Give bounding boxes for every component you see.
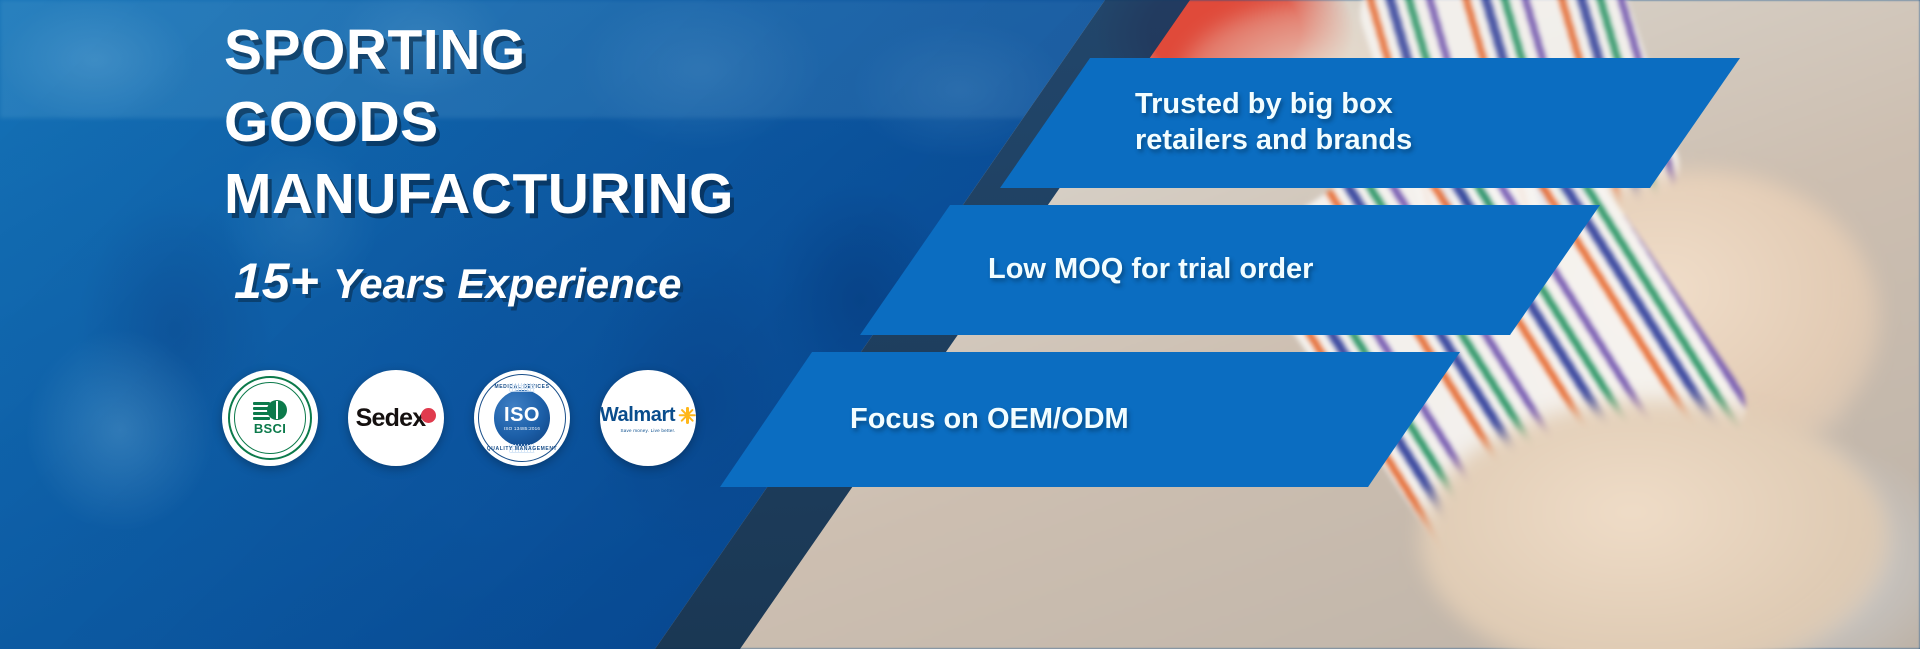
bsci-badge[interactable]: BSCI [222, 370, 318, 466]
headline-line-3: MANUFACTURING [224, 158, 864, 230]
iso-label: ISO [504, 406, 540, 425]
bsci-label: BSCI [254, 421, 286, 436]
page-title: SPORTING GOODS MANUFACTURING [224, 14, 864, 230]
headline-line-2: GOODS [224, 86, 864, 158]
sedex-badge[interactable]: Sedex [348, 370, 444, 466]
walmart-tagline: Save money. Live better. [620, 428, 675, 433]
iso-ring-icon: MEDICAL DEVICES ISO ISO 13485:2016 QUALI… [478, 374, 566, 462]
feature-panel-moq[interactable]: Low MOQ for trial order [860, 205, 1600, 335]
certification-badges: BSCI Sedex MEDICAL DEVICES ISO ISO 13485… [222, 370, 696, 466]
bsci-ring-icon: BSCI [228, 376, 312, 460]
iso-standard: ISO 13485:2016 [504, 426, 540, 431]
iso-globe-icon [509, 383, 535, 392]
bsci-globe-icon [253, 400, 287, 420]
iso-badge[interactable]: MEDICAL DEVICES ISO ISO 13485:2016 QUALI… [474, 370, 570, 466]
feature-panel-trusted[interactable]: Trusted by big box retailers and brands [1000, 58, 1740, 188]
years-label: Years Experience [333, 260, 682, 308]
hero-banner: SPORTING GOODS MANUFACTURING 15+ Years E… [0, 0, 1920, 649]
feature-panel-oem[interactable]: Focus on OEM/ODM [720, 352, 1460, 487]
walmart-spark-icon [679, 407, 696, 424]
walmart-badge[interactable]: Walmart Save money. Live better. [600, 370, 696, 466]
feature-panel-oem-line1: Focus on OEM/ODM [850, 402, 1129, 438]
iso-arc-bottom: QUALITY MANAGEMENT [479, 446, 565, 452]
walmart-label: Walmart [600, 404, 675, 427]
feature-panel-moq-line1: Low MOQ for trial order [988, 252, 1313, 288]
headline-line-1: SPORTING [224, 14, 864, 86]
years-number: 15+ [234, 252, 319, 310]
subheading: 15+ Years Experience [234, 252, 682, 310]
feature-panel-trusted-line2: retailers and brands [1135, 123, 1412, 159]
sedex-label: Sedex [356, 404, 426, 433]
sedex-dot-icon [421, 408, 436, 423]
feature-panel-trusted-line1: Trusted by big box [1135, 87, 1412, 123]
